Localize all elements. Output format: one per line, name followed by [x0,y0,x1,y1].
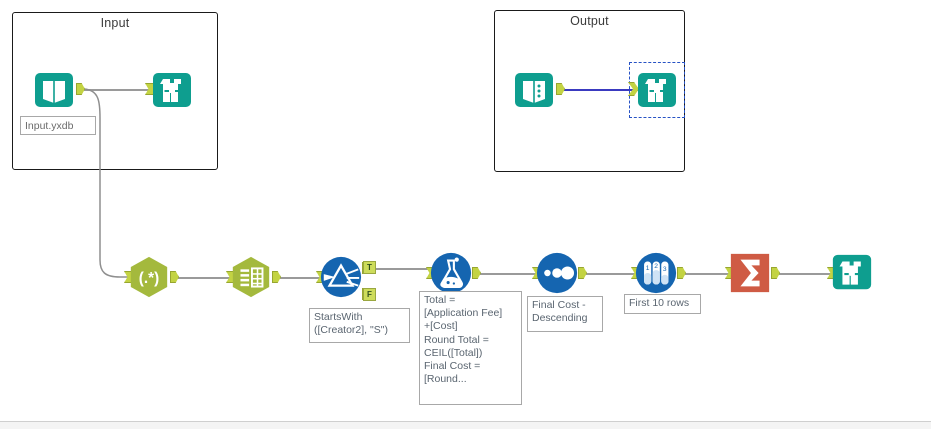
connector-wire[interactable] [478,273,537,275]
book-icon [32,68,76,112]
svg-text:1: 1 [646,265,650,272]
svg-text:2: 2 [654,263,658,270]
connector-wire[interactable] [681,273,731,275]
filter-output-label-true: T [363,261,376,274]
connector-wire[interactable] [776,273,833,275]
bottom-divider [0,421,931,422]
regex-hex-icon: (.*) [127,255,171,299]
connector-wire[interactable] [84,89,152,91]
sort-tool[interactable] [535,251,581,297]
connector-wire[interactable] [374,268,431,270]
sigma-icon [728,251,772,295]
sample-annotation[interactable]: First 10 rows [624,294,701,314]
output-anchor[interactable] [272,271,281,283]
binoculars-icon [635,68,679,112]
table-hex-icon [229,255,273,299]
testtubes-icon: 1 2 3 [634,251,678,295]
browse-tool[interactable] [830,251,876,297]
sample-tool[interactable]: 1 2 3 [634,251,680,297]
connector-wire[interactable] [175,277,233,279]
connector-wire-selected[interactable] [562,89,638,91]
summarize-tool[interactable] [728,251,774,297]
output-anchor[interactable] [677,267,686,279]
input-file-annotation[interactable]: Input.yxdb [20,116,96,135]
output-anchor[interactable] [578,267,587,279]
input-data-tool[interactable] [32,68,76,112]
output-anchor[interactable] [771,267,780,279]
binoculars-icon [150,68,194,112]
output-data-tool[interactable] [512,68,556,112]
regex-tool[interactable]: (.*) [127,255,173,301]
binoculars-icon [830,251,874,295]
output-anchor[interactable] [472,267,481,279]
container-title-input: Input [13,16,217,30]
output-anchor[interactable] [170,271,179,283]
filter-annotation[interactable]: StartsWith ([Creator2], "S") [309,308,410,343]
browse-tool-selected[interactable] [635,68,679,112]
filter-tool[interactable] [319,255,365,301]
prism-icon [319,255,363,299]
connector-wire[interactable] [277,277,322,279]
browse-tool[interactable] [150,68,194,112]
svg-text:(.*): (.*) [139,270,159,287]
book-dots-icon [512,68,556,112]
workflow-canvas[interactable]: Input Output [0,0,931,429]
sort-dots-icon [535,251,579,295]
flask-icon [429,251,473,295]
container-title-output: Output [495,14,684,28]
connector-wire[interactable] [583,273,636,275]
filter-output-label-false: F [363,288,376,301]
bottom-strip [0,422,931,429]
svg-text:3: 3 [663,266,667,273]
select-tool[interactable] [229,255,275,301]
formula-annotation[interactable]: Total = [Application Fee] +[Cost] Round … [419,291,522,405]
sort-annotation[interactable]: Final Cost - Descending [527,296,603,332]
